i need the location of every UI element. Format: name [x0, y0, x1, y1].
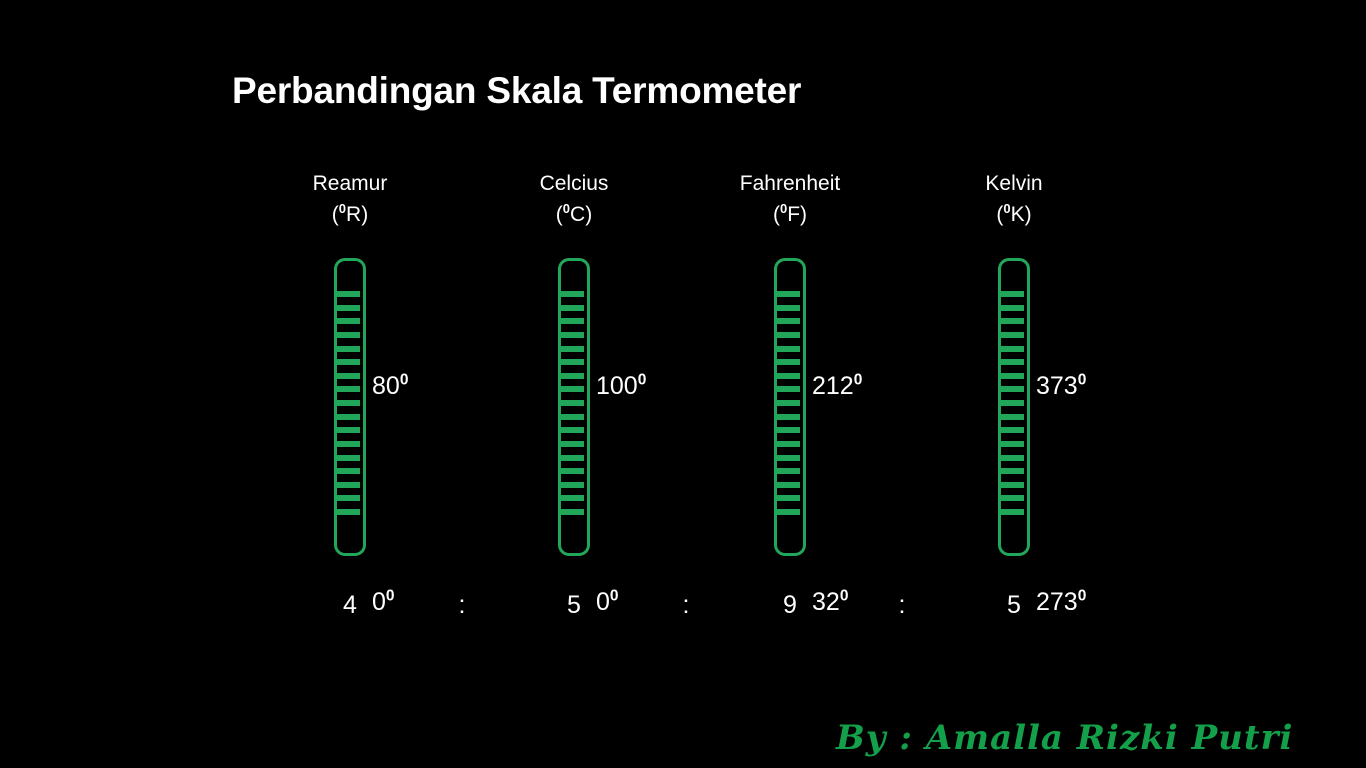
thermometer-tick-mark [337, 291, 360, 297]
scale-name-label: Fahrenheit [740, 172, 840, 195]
thermometer-tick-mark [1001, 400, 1024, 406]
thermometer-tick-mark [561, 373, 584, 379]
scale-top-value: 800 [372, 374, 408, 399]
thermometer-tick-mark [337, 346, 360, 352]
scale-unit-label: (0K) [884, 199, 1144, 230]
thermometer-tick-mark [1001, 291, 1024, 297]
thermometer-tick-mark [337, 455, 360, 461]
thermometer-tick-mark [561, 414, 584, 420]
thermometer-tick-mark [777, 455, 800, 461]
thermometer-tick-mark [1001, 359, 1024, 365]
scale-top-value: 3730 [1036, 374, 1086, 399]
thermometer-tick-mark [337, 318, 360, 324]
thermometer-tick-mark [777, 509, 800, 515]
thermometer-tick-mark [561, 427, 584, 433]
ratio-value-celcius: 5 [544, 588, 604, 622]
thermometer-tick-mark [337, 373, 360, 379]
top-value-number: 212 [812, 372, 854, 400]
unit-letter: C [570, 203, 585, 226]
ratio-separator: : [674, 588, 698, 622]
thermometer-tick-mark [561, 386, 584, 392]
thermometer-tick-mark [561, 441, 584, 447]
scale-header-kelvin: Kelvin (0K) [884, 168, 1144, 230]
unit-open-paren: ( [773, 203, 780, 226]
thermometer-tick-mark [561, 305, 584, 311]
thermometer-tick-mark [777, 427, 800, 433]
thermometer-tick-mark [561, 346, 584, 352]
thermometer-tick-mark [337, 441, 360, 447]
page-title: Perbandingan Skala Termometer [232, 70, 801, 112]
thermometer-ticks [1001, 291, 1031, 515]
top-value-degree: 0 [854, 372, 863, 389]
unit-degree-symbol: 0 [563, 201, 570, 216]
top-value-number: 80 [372, 372, 400, 400]
thermometer-tick-mark [337, 495, 360, 501]
unit-letter: K [1011, 203, 1025, 226]
thermometer-tick-mark [561, 291, 584, 297]
ratio-separator: : [450, 588, 474, 622]
ratio-value-kelvin: 5 [984, 588, 1044, 622]
thermometer-tick-mark [777, 359, 800, 365]
ratio-value-fahrenheit: 9 [760, 588, 820, 622]
thermometer-tick-mark [561, 482, 584, 488]
thermometer-tick-mark [777, 495, 800, 501]
thermometer-tick-mark [1001, 468, 1024, 474]
thermometer-tick-mark [337, 414, 360, 420]
thermometer-tick-mark [777, 291, 800, 297]
top-value-degree: 0 [400, 372, 409, 389]
thermometer-tick-mark [1001, 332, 1024, 338]
unit-open-paren: ( [556, 203, 563, 226]
thermometer-tick-mark [1001, 427, 1024, 433]
thermometer-tick-mark [337, 427, 360, 433]
thermometer-tick-mark [777, 332, 800, 338]
scale-name-label: Reamur [313, 172, 388, 195]
top-value-degree: 0 [1078, 372, 1087, 389]
thermometer-tick-mark [1001, 455, 1024, 461]
thermometer-tick-mark [777, 318, 800, 324]
thermometer-tick-mark [561, 359, 584, 365]
thermometer-tick-mark [337, 359, 360, 365]
thermometer-tick-mark [337, 509, 360, 515]
thermometer-tick-mark [777, 441, 800, 447]
thermometer-tick-mark [561, 400, 584, 406]
thermometer-tick-mark [1001, 441, 1024, 447]
thermometer-tick-mark [1001, 386, 1024, 392]
unit-degree-symbol: 0 [1003, 201, 1010, 216]
unit-close-paren: ) [361, 203, 368, 226]
thermometer-tick-mark [777, 386, 800, 392]
top-value-number: 373 [1036, 372, 1078, 400]
thermometer-tick-mark [1001, 318, 1024, 324]
slide-canvas: Perbandingan Skala Termometer Reamur (0R… [0, 0, 1366, 768]
thermometer-tick-mark [561, 495, 584, 501]
scale-header-fahrenheit: Fahrenheit (0F) [660, 168, 920, 230]
thermometer-ticks [777, 291, 807, 515]
unit-letter: F [787, 203, 800, 226]
scale-unit-label: (0F) [660, 199, 920, 230]
thermometer-tick-mark [561, 318, 584, 324]
scale-name-label: Celcius [540, 172, 609, 195]
thermometer-tick-mark [561, 455, 584, 461]
thermometer-tick-mark [337, 482, 360, 488]
thermometer-tick-mark [1001, 509, 1024, 515]
thermometer-tick-mark [777, 482, 800, 488]
thermometer-fahrenheit: 2120 320 [660, 258, 920, 558]
ratio-row: 4 : 5 : 9 : 5 [220, 588, 1144, 624]
ratio-value-reamur: 4 [320, 588, 380, 622]
scale-name-label: Kelvin [985, 172, 1042, 195]
unit-close-paren: ) [800, 203, 807, 226]
unit-close-paren: ) [1025, 203, 1032, 226]
scale-top-value: 2120 [812, 374, 862, 399]
thermometer-tick-mark [337, 386, 360, 392]
author-signature: By : Amalla Rizki Putri [836, 718, 1293, 758]
thermometer-kelvin: 3730 2730 [884, 258, 1144, 558]
thermometer-tick-mark [777, 373, 800, 379]
thermometer-tick-mark [777, 468, 800, 474]
thermometer-tick-mark [561, 509, 584, 515]
thermometer-tick-mark [337, 468, 360, 474]
scale-top-value: 1000 [596, 374, 646, 399]
thermometer-tick-mark [777, 346, 800, 352]
scale-header-reamur: Reamur (0R) [220, 168, 480, 230]
thermometer-ticks [337, 291, 367, 515]
unit-degree-symbol: 0 [339, 201, 346, 216]
thermometer-tick-mark [1001, 414, 1024, 420]
thermometer-tick-mark [337, 332, 360, 338]
scale-unit-label: (0R) [220, 199, 480, 230]
thermometer-tick-mark [561, 332, 584, 338]
thermometer-tick-mark [337, 305, 360, 311]
thermometer-tick-mark [777, 414, 800, 420]
ratio-separator: : [890, 588, 914, 622]
thermometer-tick-mark [777, 305, 800, 311]
unit-letter: R [346, 203, 361, 226]
thermometer-tick-mark [777, 400, 800, 406]
thermometer-tick-mark [1001, 346, 1024, 352]
thermometer-reamur: 800 00 [220, 258, 480, 558]
thermometer-tick-mark [1001, 495, 1024, 501]
top-value-degree: 0 [638, 372, 647, 389]
unit-open-paren: ( [332, 203, 339, 226]
thermometer-tick-mark [561, 468, 584, 474]
thermometer-tick-mark [1001, 305, 1024, 311]
thermometer-ticks [561, 291, 591, 515]
unit-close-paren: ) [585, 203, 592, 226]
thermometer-tick-mark [1001, 482, 1024, 488]
thermometer-tick-mark [1001, 373, 1024, 379]
thermometer-tick-mark [337, 400, 360, 406]
top-value-number: 100 [596, 372, 638, 400]
